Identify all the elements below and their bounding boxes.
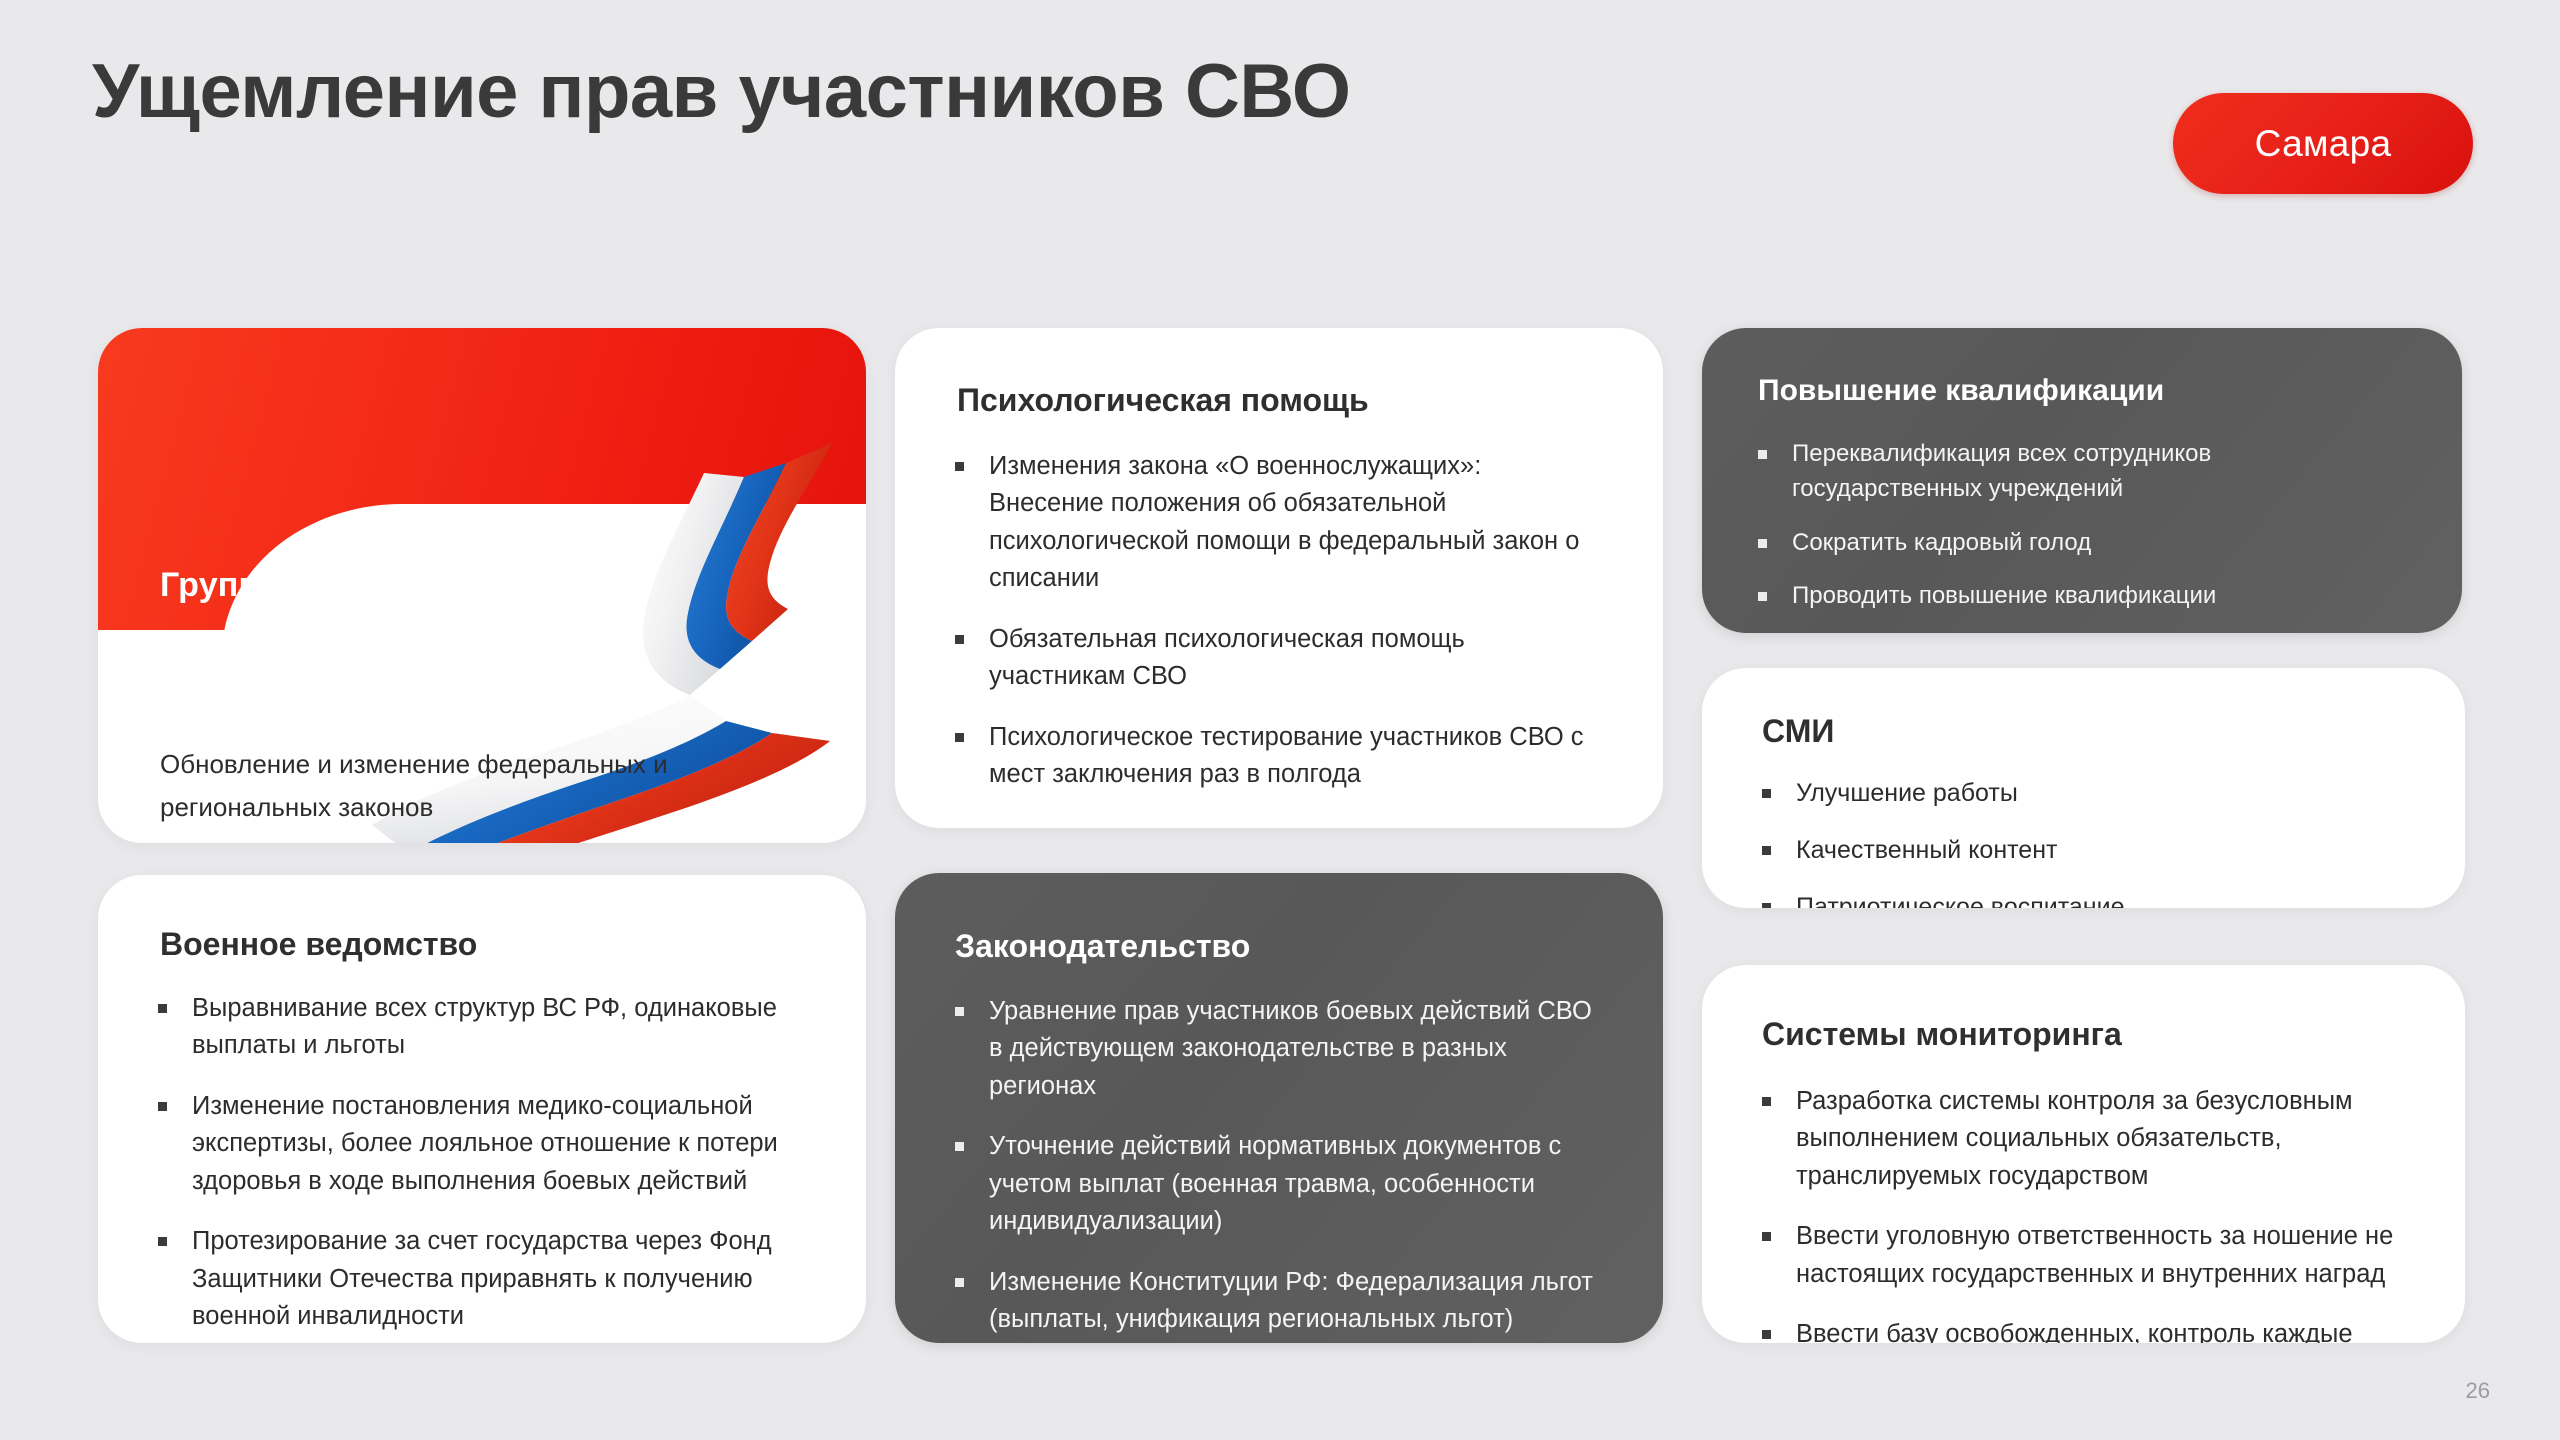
list-item: Обязательная психологическая помощь учас… — [951, 621, 1591, 696]
list-item-text: Психологическое тестирование участников … — [989, 723, 1584, 788]
bullet-square-icon — [955, 462, 964, 471]
list-item-text: Разработка системы контроля за безусловн… — [1796, 1087, 2353, 1190]
bullet-square-icon — [1762, 903, 1771, 909]
bullet-square-icon — [955, 635, 964, 644]
list-item-text: Ввести базу освобожденных, контроль кажд… — [1796, 1320, 2353, 1343]
list-item-text: Проводить повышение квалификации — [1792, 582, 2216, 609]
list-item: Улучшение работы — [1758, 775, 2388, 812]
list-item: Переквалификация всех сотрудников госуда… — [1754, 436, 2384, 507]
card-legislation[interactable]: Законодательство Уравнение прав участник… — [895, 873, 1663, 1343]
card-group-idea-body: Обновление и изменение федеральных и рег… — [160, 743, 740, 829]
list-item: Уточнение действий нормативных документо… — [951, 1128, 1611, 1240]
bullet-square-icon — [1762, 1097, 1771, 1106]
list-item: Сократить кадровый голод — [1754, 525, 2384, 560]
bullet-square-icon — [1762, 1232, 1771, 1241]
card-monitoring-systems[interactable]: Системы мониторинга Разработка системы к… — [1702, 965, 2465, 1343]
bullet-square-icon — [1758, 450, 1767, 459]
list-item-text: Изменение постановления медико-социально… — [192, 1092, 778, 1195]
region-badge[interactable]: Самара — [2173, 93, 2473, 194]
card-psychological-help-list: Изменения закона «О военнослужащих»: Вне… — [951, 448, 1591, 794]
bullet-square-icon — [158, 1004, 167, 1013]
card-military-department-title: Военное ведомство — [160, 925, 477, 963]
list-item: Уравнение прав участников боевых действи… — [951, 993, 1611, 1105]
list-item-text: Сократить кадровый голод — [1792, 529, 2091, 556]
card-group-idea-title: Групповая идея-решение — [160, 566, 592, 605]
card-qualification[interactable]: Повышение квалификации Переквалификация … — [1702, 328, 2462, 633]
list-item: Изменения закона «О военнослужащих»: Вне… — [951, 448, 1591, 598]
list-item: Изменение Конституции РФ: Федерализация … — [951, 1264, 1611, 1339]
bullet-square-icon — [1762, 1330, 1771, 1339]
list-item-text: Протезирование за счет государства через… — [192, 1227, 772, 1330]
list-item: Изменение постановления медико-социально… — [154, 1088, 804, 1200]
card-legislation-list: Уравнение прав участников боевых действи… — [951, 993, 1611, 1339]
bullet-square-icon — [1758, 592, 1767, 601]
bullet-square-icon — [955, 733, 964, 742]
card-legislation-title: Законодательство — [955, 927, 1250, 965]
card-qualification-list: Переквалификация всех сотрудников госуда… — [1754, 436, 2384, 631]
card-monitoring-systems-list: Разработка системы контроля за безусловн… — [1758, 1083, 2428, 1343]
card-group-idea[interactable]: Групповая идея-решение Обновление и изме… — [98, 328, 866, 843]
card-monitoring-systems-title: Системы мониторинга — [1762, 1015, 2122, 1053]
list-item: Выравнивание всех структур ВС РФ, одинак… — [154, 990, 804, 1065]
bullet-square-icon — [955, 1007, 964, 1016]
slide-root: Ущемление прав участников СВО Самара — [0, 0, 2560, 1440]
list-item: Ввести уголовную ответственность за ноше… — [1758, 1218, 2428, 1293]
card-smi-list: Улучшение работы Качественный контент Па… — [1758, 775, 2388, 908]
card-military-department-list: Выравнивание всех структур ВС РФ, одинак… — [154, 990, 804, 1336]
bullet-square-icon — [1762, 789, 1771, 798]
card-smi[interactable]: СМИ Улучшение работы Качественный контен… — [1702, 668, 2465, 908]
list-item-text: Улучшение работы — [1796, 779, 2018, 807]
card-smi-title: СМИ — [1762, 712, 1834, 750]
list-item-text: Ввести уголовную ответственность за ноше… — [1796, 1222, 2393, 1287]
list-item-text: Уточнение действий нормативных документо… — [989, 1132, 1561, 1235]
card-qualification-title: Повышение квалификации — [1758, 373, 2164, 409]
card-psychological-help-title: Психологическая помощь — [957, 381, 1369, 419]
bullet-square-icon — [955, 1278, 964, 1287]
list-item: Качественный контент — [1758, 832, 2388, 869]
bullet-square-icon — [1762, 846, 1771, 855]
bullet-square-icon — [955, 1142, 964, 1151]
list-item: Психологическое тестирование участников … — [951, 719, 1591, 794]
list-item: Протезирование за счет государства через… — [154, 1223, 804, 1335]
page-number: 26 — [2466, 1378, 2490, 1404]
list-item: Патриотическое воспитание — [1758, 889, 2388, 909]
bullet-square-icon — [158, 1237, 167, 1246]
bullet-square-icon — [158, 1102, 167, 1111]
list-item-text: Обязательная психологическая помощь учас… — [989, 625, 1465, 690]
list-item-text: Патриотическое воспитание — [1796, 893, 2124, 909]
page-title: Ущемление прав участников СВО — [92, 48, 1351, 135]
list-item-text: Выравнивание всех структур ВС РФ, одинак… — [192, 994, 777, 1059]
list-item: Ввести базу освобожденных, контроль кажд… — [1758, 1316, 2428, 1343]
bullet-square-icon — [1758, 539, 1767, 548]
list-item-text: Изменения закона «О военнослужащих»: Вне… — [989, 452, 1579, 592]
list-item-text: Качественный контент — [1796, 836, 2057, 864]
list-item: Проводить повышение квалификации — [1754, 578, 2384, 613]
list-item-text: Уравнение прав участников боевых действи… — [989, 997, 1592, 1100]
card-psychological-help[interactable]: Психологическая помощь Изменения закона … — [895, 328, 1663, 828]
list-item-text: Переквалификация всех сотрудников госуда… — [1792, 440, 2211, 502]
list-item: Разработка системы контроля за безусловн… — [1758, 1083, 2428, 1195]
region-badge-label: Самара — [2255, 123, 2392, 165]
card-military-department[interactable]: Военное ведомство Выравнивание всех стру… — [98, 875, 866, 1343]
list-item-text: Изменение Конституции РФ: Федерализация … — [989, 1268, 1593, 1333]
